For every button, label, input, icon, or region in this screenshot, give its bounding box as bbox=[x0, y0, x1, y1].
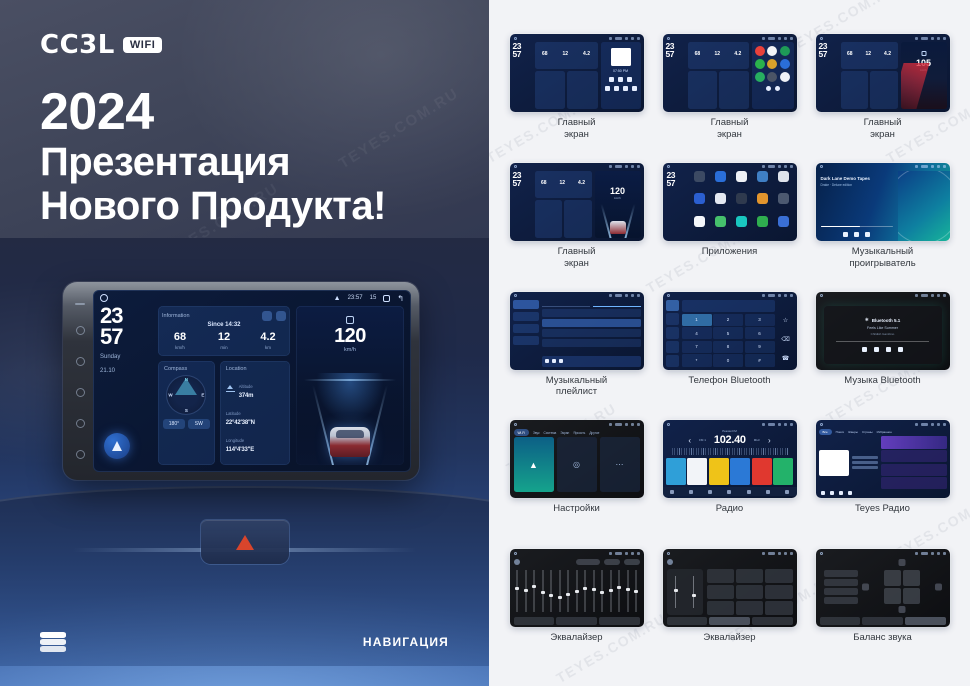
key-0: 0 bbox=[713, 354, 743, 366]
treble-slider bbox=[693, 576, 694, 608]
mini-status-right bbox=[762, 552, 793, 555]
mini-widgets: 68 12 4.2 bbox=[841, 42, 898, 109]
mini-location-card bbox=[719, 71, 749, 109]
category-albums bbox=[513, 312, 539, 321]
clock-icon bbox=[615, 423, 622, 426]
balance-pad bbox=[862, 559, 942, 615]
previous-icon bbox=[545, 359, 549, 363]
wifi-icon bbox=[762, 552, 765, 555]
mini-status-right bbox=[915, 423, 946, 426]
mini-status-bar bbox=[663, 549, 797, 557]
preset-station bbox=[709, 458, 729, 485]
key-1: 1 bbox=[682, 314, 712, 326]
radio-body: Режим FM ‹ FM 1 102.40 MHz › bbox=[663, 428, 797, 498]
music-info: Dark Lane Demo Tapes Drake · Deluxe edit… bbox=[816, 171, 898, 241]
arrow-up-icon bbox=[898, 559, 905, 566]
gallery-item[interactable]: Режим FM ‹ FM 1 102.40 MHz › bbox=[658, 420, 801, 547]
mini-compass-card bbox=[841, 71, 869, 109]
gallery-item[interactable]: Все Поиск Жанры Страны Избранное bbox=[811, 420, 954, 547]
wifi-icon bbox=[915, 37, 918, 40]
preset-station bbox=[752, 458, 772, 485]
thumbnail-music-player[interactable]: Dark Lane Demo Tapes Drake · Deluxe edit… bbox=[816, 163, 950, 241]
gallery-item[interactable]: 23 57 68 12 4.2 bbox=[505, 34, 648, 161]
playlist-main bbox=[542, 300, 641, 367]
thumbnail-settings[interactable]: Wi-Fi Звук Система Экран Яркость Другое … bbox=[510, 420, 644, 498]
mini-stats: 68 12 4.2 bbox=[535, 42, 598, 57]
cast-icon bbox=[631, 165, 634, 168]
home-icon bbox=[667, 423, 670, 426]
volume-icon bbox=[625, 37, 628, 40]
gallery-caption: Главный экран bbox=[864, 117, 902, 141]
band-icon bbox=[670, 490, 674, 494]
back-icon bbox=[790, 552, 793, 555]
settings-card-hotspot: ◎ bbox=[557, 437, 597, 492]
app-icon-files bbox=[767, 59, 777, 69]
back-icon bbox=[637, 423, 640, 426]
mountain-icon bbox=[226, 383, 235, 392]
road-view bbox=[296, 373, 404, 465]
thumbnail-sound-balance[interactable] bbox=[816, 549, 950, 627]
tab-favorites: Избранное bbox=[877, 430, 892, 434]
thumbnail-home-nav-red[interactable]: 23 57 68 12 4.2 bbox=[816, 34, 950, 112]
thumbnail-app-drawer[interactable]: 23 57 bbox=[663, 163, 797, 241]
category-tracks bbox=[513, 300, 539, 309]
wifi-icon bbox=[762, 165, 765, 168]
cast-icon bbox=[784, 165, 787, 168]
app-shortcut-grid bbox=[755, 46, 791, 82]
mini-widgets: 68 12 4.2 bbox=[688, 42, 749, 109]
mini-clock-minutes: 57 bbox=[666, 49, 674, 59]
dialer-actions: ☆ ⌫ ☎ bbox=[778, 300, 794, 367]
key-8: 8 bbox=[713, 341, 743, 353]
car-3d-model bbox=[330, 427, 370, 457]
hotspot-icon: ◎ bbox=[573, 460, 580, 469]
mini-home-body: 23 57 68 12 4.2 bbox=[816, 42, 950, 112]
tab-presets bbox=[862, 617, 903, 625]
equalizer-tabs bbox=[667, 617, 793, 625]
preset-icon bbox=[667, 559, 673, 565]
volume-icon bbox=[931, 552, 934, 555]
gallery-item[interactable]: 23 57 68 12 4.2 bbox=[811, 34, 954, 161]
mini-stat: 12 bbox=[563, 51, 569, 57]
gallery-caption: Главный экран bbox=[711, 117, 749, 141]
settings-icon bbox=[766, 490, 770, 494]
stat-value: 12 bbox=[202, 332, 246, 343]
clock-day: Sunday bbox=[100, 353, 152, 362]
home-icon bbox=[820, 294, 823, 297]
clock-minutes: 57 bbox=[100, 327, 152, 348]
back-icon bbox=[943, 423, 946, 426]
call-icon: ☎ bbox=[778, 350, 794, 367]
gallery-caption: Баланс звука bbox=[853, 632, 912, 644]
dialer-body: 1 2 3 4 5 6 7 8 9 * 0 # bbox=[663, 300, 797, 370]
gallery-caption: Teyes Радио bbox=[855, 503, 910, 515]
thumbnail-bluetooth-music[interactable]: ⚛ Bluetooth 5.1 Feels Like Summer Childi… bbox=[816, 292, 950, 370]
mini-status-right bbox=[609, 552, 640, 555]
settings-card-wifi: ▲ bbox=[514, 437, 554, 492]
bluetooth-version-label: Bluetooth 5.1 bbox=[872, 318, 901, 323]
lane-warning-overlay bbox=[901, 63, 930, 109]
clock-icon bbox=[921, 165, 928, 168]
refresh-icon[interactable] bbox=[276, 311, 286, 321]
tab-all bbox=[542, 300, 590, 307]
mini-status-bar bbox=[510, 34, 644, 42]
home-icon[interactable] bbox=[100, 294, 108, 302]
thumbnail-home-nav-blue[interactable]: 23 57 68 12 4.2 bbox=[510, 163, 644, 241]
key-6: 6 bbox=[745, 327, 775, 339]
back-icon bbox=[637, 165, 640, 168]
app-icon-maps bbox=[780, 46, 790, 56]
stat-distance: 4.2 km bbox=[246, 332, 290, 350]
head-unit-device: ▲ 23:57 15 ↰ 23 57 Sunday 21.10 bbox=[63, 282, 419, 480]
mini-clock-minutes: 57 bbox=[513, 49, 521, 59]
music-player-body: Dark Lane Demo Tapes Drake · Deluxe edit… bbox=[816, 171, 950, 241]
clock-icon bbox=[615, 165, 622, 168]
volume-icon bbox=[778, 37, 781, 40]
app-icon-settings bbox=[780, 59, 790, 69]
tab-all: Все bbox=[819, 429, 832, 435]
app-icon-browser bbox=[767, 46, 777, 56]
track-artist: Drake · Deluxe edition bbox=[821, 183, 893, 187]
keypad: 1 2 3 4 5 6 7 8 9 * 0 # bbox=[682, 314, 775, 367]
wifi-icon bbox=[609, 294, 612, 297]
grid-icon bbox=[785, 490, 789, 494]
wifi-badge: WIFI bbox=[123, 37, 163, 53]
gallery-caption: Радио bbox=[716, 503, 743, 515]
back-icon bbox=[943, 294, 946, 297]
track-row bbox=[542, 309, 641, 317]
wifi-icon bbox=[609, 165, 612, 168]
compass-widget[interactable]: Compass N E S W 180° S bbox=[158, 361, 215, 465]
wifi-icon bbox=[915, 552, 918, 555]
app-shortcuts-footer bbox=[755, 86, 791, 91]
balance-preset-front bbox=[824, 570, 858, 577]
preset-station bbox=[773, 458, 793, 485]
home-icon bbox=[820, 165, 823, 168]
mini-clock-date bbox=[819, 61, 838, 65]
information-header: Information bbox=[158, 310, 290, 322]
station-metadata bbox=[852, 436, 878, 489]
now-playing-bar bbox=[542, 356, 641, 367]
settings-cards: ▲ ◎ ⋯ bbox=[514, 437, 640, 492]
back-button[interactable] bbox=[76, 388, 85, 397]
thumbnail-playlist[interactable] bbox=[510, 292, 644, 370]
mini-stat: 4.2 bbox=[884, 51, 891, 57]
hero-footer: НАВИГАЦИЯ bbox=[0, 632, 489, 652]
balance-preset-left bbox=[824, 588, 858, 595]
mini-status-right bbox=[915, 37, 946, 40]
playback-controls bbox=[819, 491, 947, 495]
preset-dance bbox=[765, 585, 792, 599]
mini-widgets: 68 12 4.2 bbox=[535, 42, 598, 109]
latitude-row: Latitude 22°42'38"N bbox=[220, 399, 290, 426]
teyes-radio-content bbox=[819, 436, 947, 489]
speed-limit-icon bbox=[346, 316, 354, 324]
gallery-caption: Настройки bbox=[553, 503, 600, 515]
mini-location-card bbox=[564, 200, 592, 238]
gallery-caption: Музыкальный плейлист bbox=[546, 375, 607, 399]
altitude-block: Altitude 374m bbox=[239, 375, 254, 399]
location-widget[interactable]: Location Altitude 374m bbox=[220, 361, 290, 465]
equalizer-tabs bbox=[820, 617, 946, 625]
cast-icon bbox=[631, 37, 634, 40]
navigation-arrow-icon[interactable] bbox=[104, 433, 130, 459]
headline-year: 2024 bbox=[40, 85, 386, 140]
pause-icon bbox=[552, 359, 556, 363]
thumbnail-equalizer-presets[interactable] bbox=[663, 549, 797, 627]
equalizer-icon bbox=[727, 490, 731, 494]
mini-stat: 4.2 bbox=[583, 51, 590, 57]
track-title: Dark Lane Demo Tapes bbox=[821, 176, 893, 181]
mini-navigation-blue: 120 km/h bbox=[595, 171, 641, 238]
volume-icon bbox=[625, 423, 628, 426]
location-title: Location bbox=[220, 361, 290, 372]
list-icon bbox=[708, 490, 712, 494]
radio-band-label: Режим FM bbox=[666, 429, 794, 433]
frequency-scale bbox=[672, 448, 788, 455]
longitude-value: 114°4'33"E bbox=[226, 447, 254, 453]
eq-band bbox=[599, 567, 606, 615]
radio-frequency: 102.40 bbox=[714, 434, 746, 446]
information-widget[interactable]: Information Since 14:32 68 km/h bbox=[158, 306, 290, 356]
mini-stat: 12 bbox=[866, 51, 872, 57]
mini-compass-card bbox=[535, 200, 563, 238]
app-icon-spotify bbox=[755, 59, 765, 69]
tab-genres: Жанры bbox=[848, 430, 858, 434]
power-button[interactable] bbox=[76, 326, 85, 335]
hardware-button-strip bbox=[70, 292, 90, 470]
gallery-item[interactable]: ⚛ Bluetooth 5.1 Feels Like Summer Childi… bbox=[811, 292, 954, 419]
speaker-grid bbox=[884, 570, 920, 604]
clock-icon bbox=[921, 552, 928, 555]
station-row bbox=[881, 436, 947, 448]
favorite-icon bbox=[848, 491, 852, 495]
mini-compass-card bbox=[688, 71, 718, 109]
thumbnail-teyes-radio[interactable]: Все Поиск Жанры Страны Избранное bbox=[816, 420, 950, 498]
gallery-item[interactable]: Баланс звука bbox=[811, 549, 954, 676]
gallery-item[interactable]: Музыкальный плейлист bbox=[505, 292, 648, 419]
home-icon bbox=[667, 552, 670, 555]
tab-eq bbox=[514, 617, 555, 625]
back-icon[interactable]: ↰ bbox=[397, 294, 404, 303]
cast-icon bbox=[937, 294, 940, 297]
mini-clock: 23 57 bbox=[819, 42, 838, 109]
gallery-caption: Музыкальный проигрыватель bbox=[849, 246, 915, 270]
hazard-button[interactable] bbox=[201, 520, 289, 564]
volume-down-button[interactable] bbox=[76, 419, 85, 428]
mini-status-right bbox=[762, 294, 793, 297]
wifi-icon bbox=[915, 294, 918, 297]
radio-toolbar bbox=[663, 487, 797, 496]
gallery-grid: 23 57 68 12 4.2 bbox=[505, 34, 954, 676]
balance-panel bbox=[820, 557, 946, 617]
track-row bbox=[542, 339, 641, 347]
mini-information-card: 68 12 4.2 bbox=[688, 42, 749, 69]
equalizer-sliders bbox=[514, 567, 640, 617]
previous-icon bbox=[821, 491, 825, 495]
speaker-front-right bbox=[903, 570, 920, 586]
gallery-item[interactable]: Dark Lane Demo Tapes Drake · Deluxe edit… bbox=[811, 163, 954, 290]
home-icon bbox=[514, 165, 517, 168]
compass-south-label: S bbox=[185, 408, 188, 413]
cast-icon bbox=[784, 37, 787, 40]
compass-readouts: 180° SW bbox=[158, 415, 215, 429]
longitude-row: Longitude 114°4'33"E bbox=[220, 426, 290, 453]
preset-selector bbox=[576, 559, 600, 565]
band-left-label: FM 1 bbox=[699, 438, 706, 442]
home-icon bbox=[514, 423, 517, 426]
dialer-nav bbox=[666, 300, 679, 367]
mini-media-panel: 07:50 PM bbox=[601, 42, 641, 109]
menu-button[interactable] bbox=[75, 303, 85, 305]
media-controls-secondary bbox=[604, 86, 638, 91]
preset-vocal bbox=[736, 585, 763, 599]
playback-controls bbox=[862, 347, 903, 352]
eq-band bbox=[548, 567, 555, 615]
volume-icon bbox=[778, 165, 781, 168]
preset-buttons bbox=[707, 569, 793, 615]
key-hash: # bbox=[745, 354, 775, 366]
hero-panel: TEYES.COM.RU TEYES.COM.RU TEYES.COM.RU T… bbox=[0, 0, 489, 686]
home-icon bbox=[820, 37, 823, 40]
mini-status-bar bbox=[816, 163, 950, 171]
mini-status-right bbox=[915, 165, 946, 168]
app-icon-camera bbox=[778, 171, 789, 182]
mini-clock-minutes: 57 bbox=[667, 178, 675, 188]
altitude-row: Altitude 374m bbox=[220, 372, 290, 399]
eq-band bbox=[573, 567, 580, 615]
playlist-body bbox=[510, 300, 644, 370]
gallery-item[interactable]: Эквалайзер bbox=[658, 549, 801, 676]
clock-icon bbox=[921, 294, 928, 297]
wifi-icon: ▲ bbox=[529, 460, 538, 470]
equalizer-tabs bbox=[514, 617, 640, 625]
mini-stats: 68 12 4.2 bbox=[841, 42, 898, 57]
preset-rock bbox=[736, 569, 763, 583]
altitude-value: 374m bbox=[239, 393, 254, 399]
mini-stat: 68 bbox=[541, 180, 547, 186]
thumbnail-bluetooth-phone[interactable]: 1 2 3 4 5 6 7 8 9 * 0 # bbox=[663, 292, 797, 370]
compass-east-label: E bbox=[201, 393, 204, 398]
longitude-label: Longitude bbox=[226, 438, 244, 443]
gallery-item[interactable]: 23 57 68 12 4.2 bbox=[658, 34, 801, 161]
previous-icon bbox=[862, 347, 867, 352]
tab-balance bbox=[599, 617, 640, 625]
key-7: 7 bbox=[682, 341, 712, 353]
thumbnail-home-apps[interactable]: 23 57 68 12 4.2 bbox=[663, 34, 797, 112]
thumbnail-home-media[interactable]: 23 57 68 12 4.2 bbox=[510, 34, 644, 112]
navigation-widget[interactable]: 120 km/h bbox=[296, 306, 404, 465]
backspace-icon: ⌫ bbox=[778, 331, 794, 348]
next-station-icon: › bbox=[768, 436, 771, 445]
widgets-column: Information Since 14:32 68 km/h bbox=[158, 306, 290, 465]
back-icon bbox=[790, 423, 793, 426]
mini-clock: 23 57 bbox=[513, 171, 532, 238]
home-icon bbox=[820, 423, 823, 426]
teyes-radio-tabs: Все Поиск Жанры Страны Избранное bbox=[819, 428, 947, 436]
settings-tab-sound: Звук bbox=[533, 431, 540, 435]
equalizer-header bbox=[514, 557, 640, 567]
mini-clock-date bbox=[513, 190, 532, 194]
screenshot-gallery: TEYES.COM.RU TEYES.COM.RU TEYES.COM.RU T… bbox=[489, 0, 970, 686]
gallery-item[interactable]: 23 57 68 12 4.2 bbox=[505, 163, 648, 290]
clock-icon bbox=[921, 423, 928, 426]
mini-app-shortcuts bbox=[752, 42, 794, 109]
seek-bar bbox=[836, 341, 928, 342]
tab-balance bbox=[752, 617, 793, 625]
key-3: 3 bbox=[745, 314, 775, 326]
thumbnail-radio[interactable]: Режим FM ‹ FM 1 102.40 MHz › bbox=[663, 420, 797, 498]
mini-clock-date bbox=[513, 61, 532, 65]
gallery-item[interactable]: Wi-Fi Звук Система Экран Яркость Другое … bbox=[505, 420, 648, 547]
app-icon-file-manager bbox=[757, 193, 768, 204]
app-icon-radio bbox=[767, 72, 777, 82]
tab-countries: Страны bbox=[862, 430, 873, 434]
back-icon bbox=[637, 294, 640, 297]
mini-stat: 12 bbox=[715, 51, 721, 57]
app-icon-contacts bbox=[715, 193, 726, 204]
balance-presets bbox=[824, 559, 858, 615]
home-button[interactable] bbox=[76, 357, 85, 366]
bluetooth-card: ⚛ Bluetooth 5.1 Feels Like Summer Childi… bbox=[824, 306, 942, 364]
mini-status-bar bbox=[663, 163, 797, 171]
mini-status-bar bbox=[510, 549, 644, 557]
brand-name: CC3L bbox=[40, 32, 115, 58]
cast-icon[interactable] bbox=[383, 295, 390, 302]
gallery-item[interactable]: 1 2 3 4 5 6 7 8 9 * 0 # bbox=[658, 292, 801, 419]
clock-icon bbox=[768, 37, 775, 40]
mini-stat: 4.2 bbox=[578, 180, 585, 186]
latitude-block: Latitude 22°42'38"N bbox=[226, 402, 255, 426]
app-icon-gallery bbox=[778, 193, 789, 204]
cast-icon bbox=[937, 165, 940, 168]
thumbnail-equalizer-bands[interactable] bbox=[510, 549, 644, 627]
bass-treble-sliders bbox=[667, 569, 703, 615]
layers-icon bbox=[40, 632, 66, 652]
app-icon-keyboard-share bbox=[736, 171, 747, 182]
longitude-block: Longitude 114°4'33"E bbox=[226, 429, 254, 453]
trip-since-label: Since 14:32 bbox=[158, 322, 290, 328]
headline-line-2: Нового Продукта! bbox=[40, 184, 386, 229]
next-icon bbox=[865, 232, 870, 237]
mini-status-bar bbox=[510, 163, 644, 171]
gallery-item[interactable]: Эквалайзер bbox=[505, 549, 648, 676]
mini-location-card bbox=[870, 71, 898, 109]
mini-status-bar bbox=[816, 292, 950, 300]
tab-search: Поиск bbox=[836, 430, 844, 434]
gallery-item[interactable]: 23 57 bbox=[658, 163, 801, 290]
preset-flat bbox=[707, 601, 734, 615]
compass-north-label: N bbox=[185, 377, 188, 382]
home-icon bbox=[667, 165, 670, 168]
settings-gear-icon[interactable] bbox=[262, 311, 272, 321]
gallery-caption: Приложения bbox=[702, 246, 758, 258]
eq-band bbox=[522, 567, 529, 615]
station-row bbox=[881, 464, 947, 476]
arrow-down-icon bbox=[898, 606, 905, 613]
volume-up-button[interactable] bbox=[76, 450, 85, 459]
home-icon bbox=[667, 37, 670, 40]
back-icon bbox=[790, 294, 793, 297]
bass-slider bbox=[675, 576, 676, 608]
eq-band bbox=[539, 567, 546, 615]
playlist-categories bbox=[513, 300, 539, 367]
compass-dial: N E S W bbox=[166, 375, 206, 415]
stat-unit: min bbox=[202, 345, 246, 350]
mini-status-bar bbox=[816, 420, 950, 428]
mini-information-card: 68 12 4.2 bbox=[535, 171, 592, 198]
compass-direction: SW bbox=[188, 419, 210, 429]
